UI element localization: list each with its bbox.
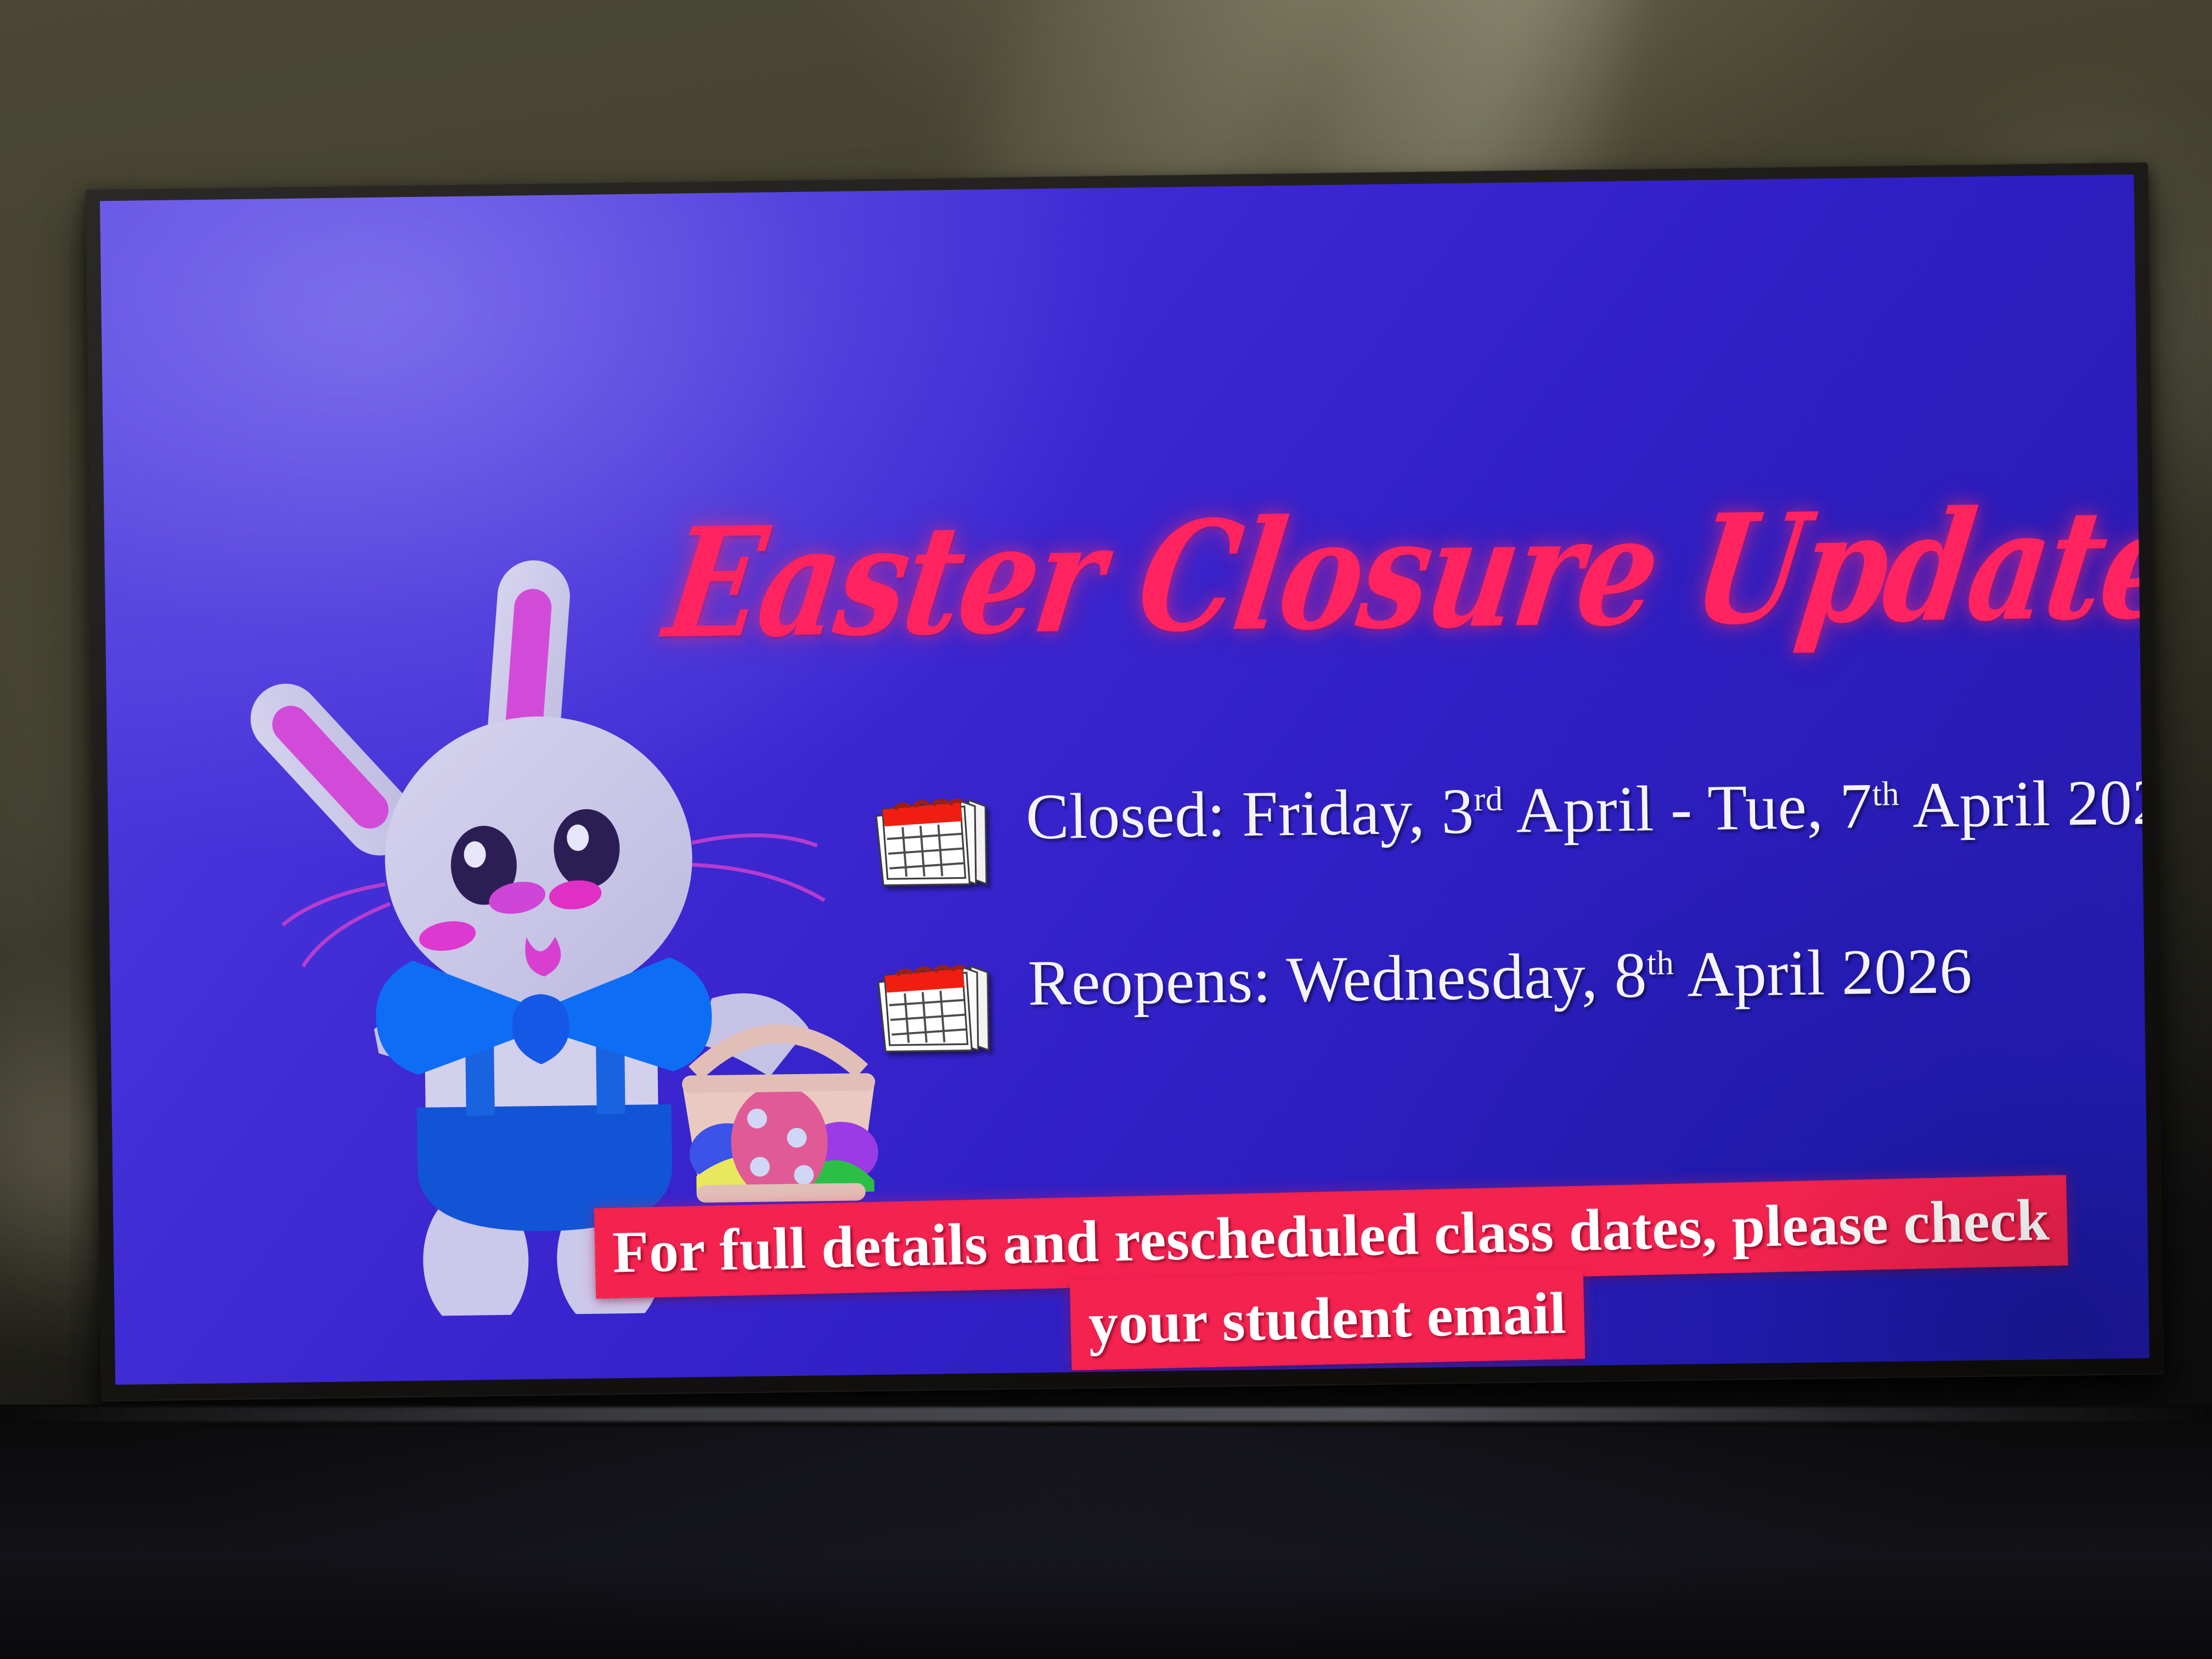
tv-stand-top-edge [0,1407,2212,1421]
tv-bezel: Easter Closure Update [86,162,2164,1401]
list-item: Reopens: Wednesday, 8th April 2026 [870,929,2149,1063]
calendar-icon [870,949,997,1063]
bullet-list: Closed: Friday, 3rd April - Tue, 7th Apr… [867,763,2149,1113]
floor-light-glow [137,1426,2002,1657]
television: Easter Closure Update [86,162,2164,1401]
footer-note: For full details and rescheduled class d… [595,1181,2058,1375]
list-item-label: Closed: Friday, 3rd April - Tue, 7th Apr… [1025,763,2149,855]
closed-ordinal-1: rd [1474,780,1503,819]
closed-middle: April - Tue, 7 [1503,770,1873,847]
easter-bunny-illustration [192,531,893,1319]
calendar-icon [867,782,995,896]
footer-line-2-text: your student email [1071,1269,1583,1369]
closed-suffix: April 2026 [1899,765,2149,841]
list-item: Closed: Friday, 3rd April - Tue, 7th Apr… [867,763,2149,896]
reopens-suffix: April 2026 [1674,935,1973,1011]
list-item-label: Reopens: Wednesday, 8th April 2026 [1028,933,1973,1022]
reopens-ordinal-1: th [1646,944,1674,983]
reopens-prefix: Reopens: Wednesday, 8 [1028,939,1647,1019]
room-scene: Easter Closure Update [0,0,2212,1659]
closed-prefix: Closed: Friday, 3 [1025,775,1475,853]
tv-screen: Easter Closure Update [100,174,2149,1385]
closed-ordinal-2: th [1872,774,1900,813]
